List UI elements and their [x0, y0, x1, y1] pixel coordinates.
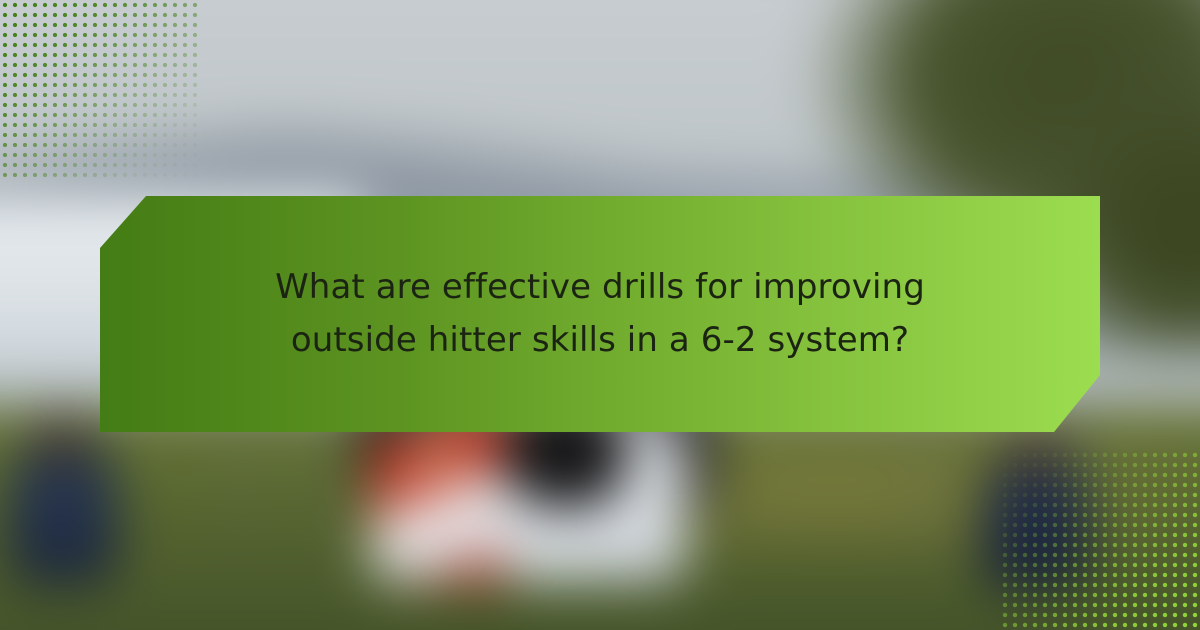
- halftone-dots-top-left-icon: [0, 0, 200, 180]
- halftone-dots-bottom-right-icon: [1000, 450, 1200, 630]
- question-card: What are effective drills for improving …: [0, 0, 1200, 630]
- question-text: What are effective drills for improving …: [255, 261, 945, 366]
- background-figure-left-head: [36, 410, 88, 466]
- question-banner: What are effective drills for improving …: [100, 196, 1100, 432]
